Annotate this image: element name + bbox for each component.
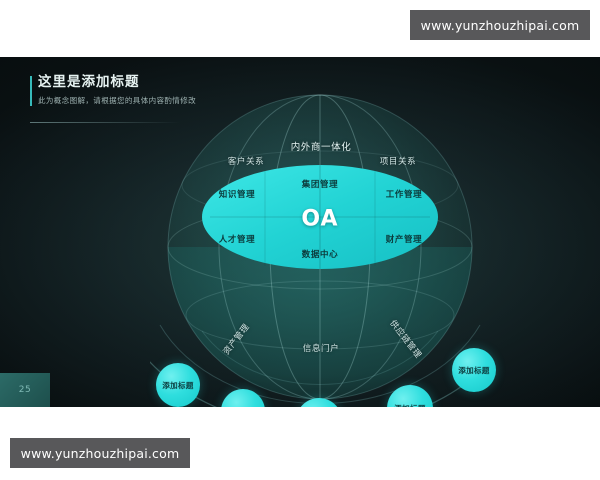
outer-label-top-left: 客户关系 [228, 155, 264, 167]
bubble-1[interactable]: 添加标题 [156, 363, 200, 407]
bubble-5-label: 添加标题 [458, 365, 490, 376]
bubble-1-label: 添加标题 [162, 380, 194, 391]
inner-label-right-top: 工作管理 [386, 188, 422, 200]
inner-label-right-bottom: 财产管理 [386, 233, 422, 245]
bubble-5[interactable]: 添加标题 [452, 348, 496, 392]
inner-label-bottom-center: 数据中心 [302, 248, 338, 260]
bubble-4-label: 添加标题 [394, 403, 426, 408]
outer-label-top-right: 项目关系 [380, 155, 416, 167]
outer-label-top-center: 内外商一体化 [291, 139, 352, 153]
inner-label-left-bottom: 人才管理 [219, 233, 255, 245]
outer-label-bottom-center: 信息门户 [303, 342, 339, 354]
sphere-diagram: 集团管理 OA 数据中心 知识管理 人才管理 工作管理 财产管理 客户关系 内外… [150, 67, 490, 407]
presentation-slide: 这里是添加标题 此为概念图解，请根据您的具体内容酌情修改 [0, 57, 600, 407]
inner-label-left-top: 知识管理 [219, 188, 255, 200]
core-label-oa: OA [301, 207, 338, 232]
inner-label-top-center: 集团管理 [302, 178, 338, 190]
watermark-bottom: www.yunzhouzhipai.com [10, 438, 190, 468]
watermark-top: www.yunzhouzhipai.com [410, 10, 590, 40]
page-number-badge: 25 [0, 373, 50, 407]
title-accent-bar [30, 76, 32, 106]
screenshot-canvas: www.yunzhouzhipai.com 这里是添加标题 此为概念图解，请根据… [0, 0, 600, 480]
sphere-diagram-svg [150, 67, 490, 407]
bubble-2-label: 添加标题 [227, 406, 259, 408]
